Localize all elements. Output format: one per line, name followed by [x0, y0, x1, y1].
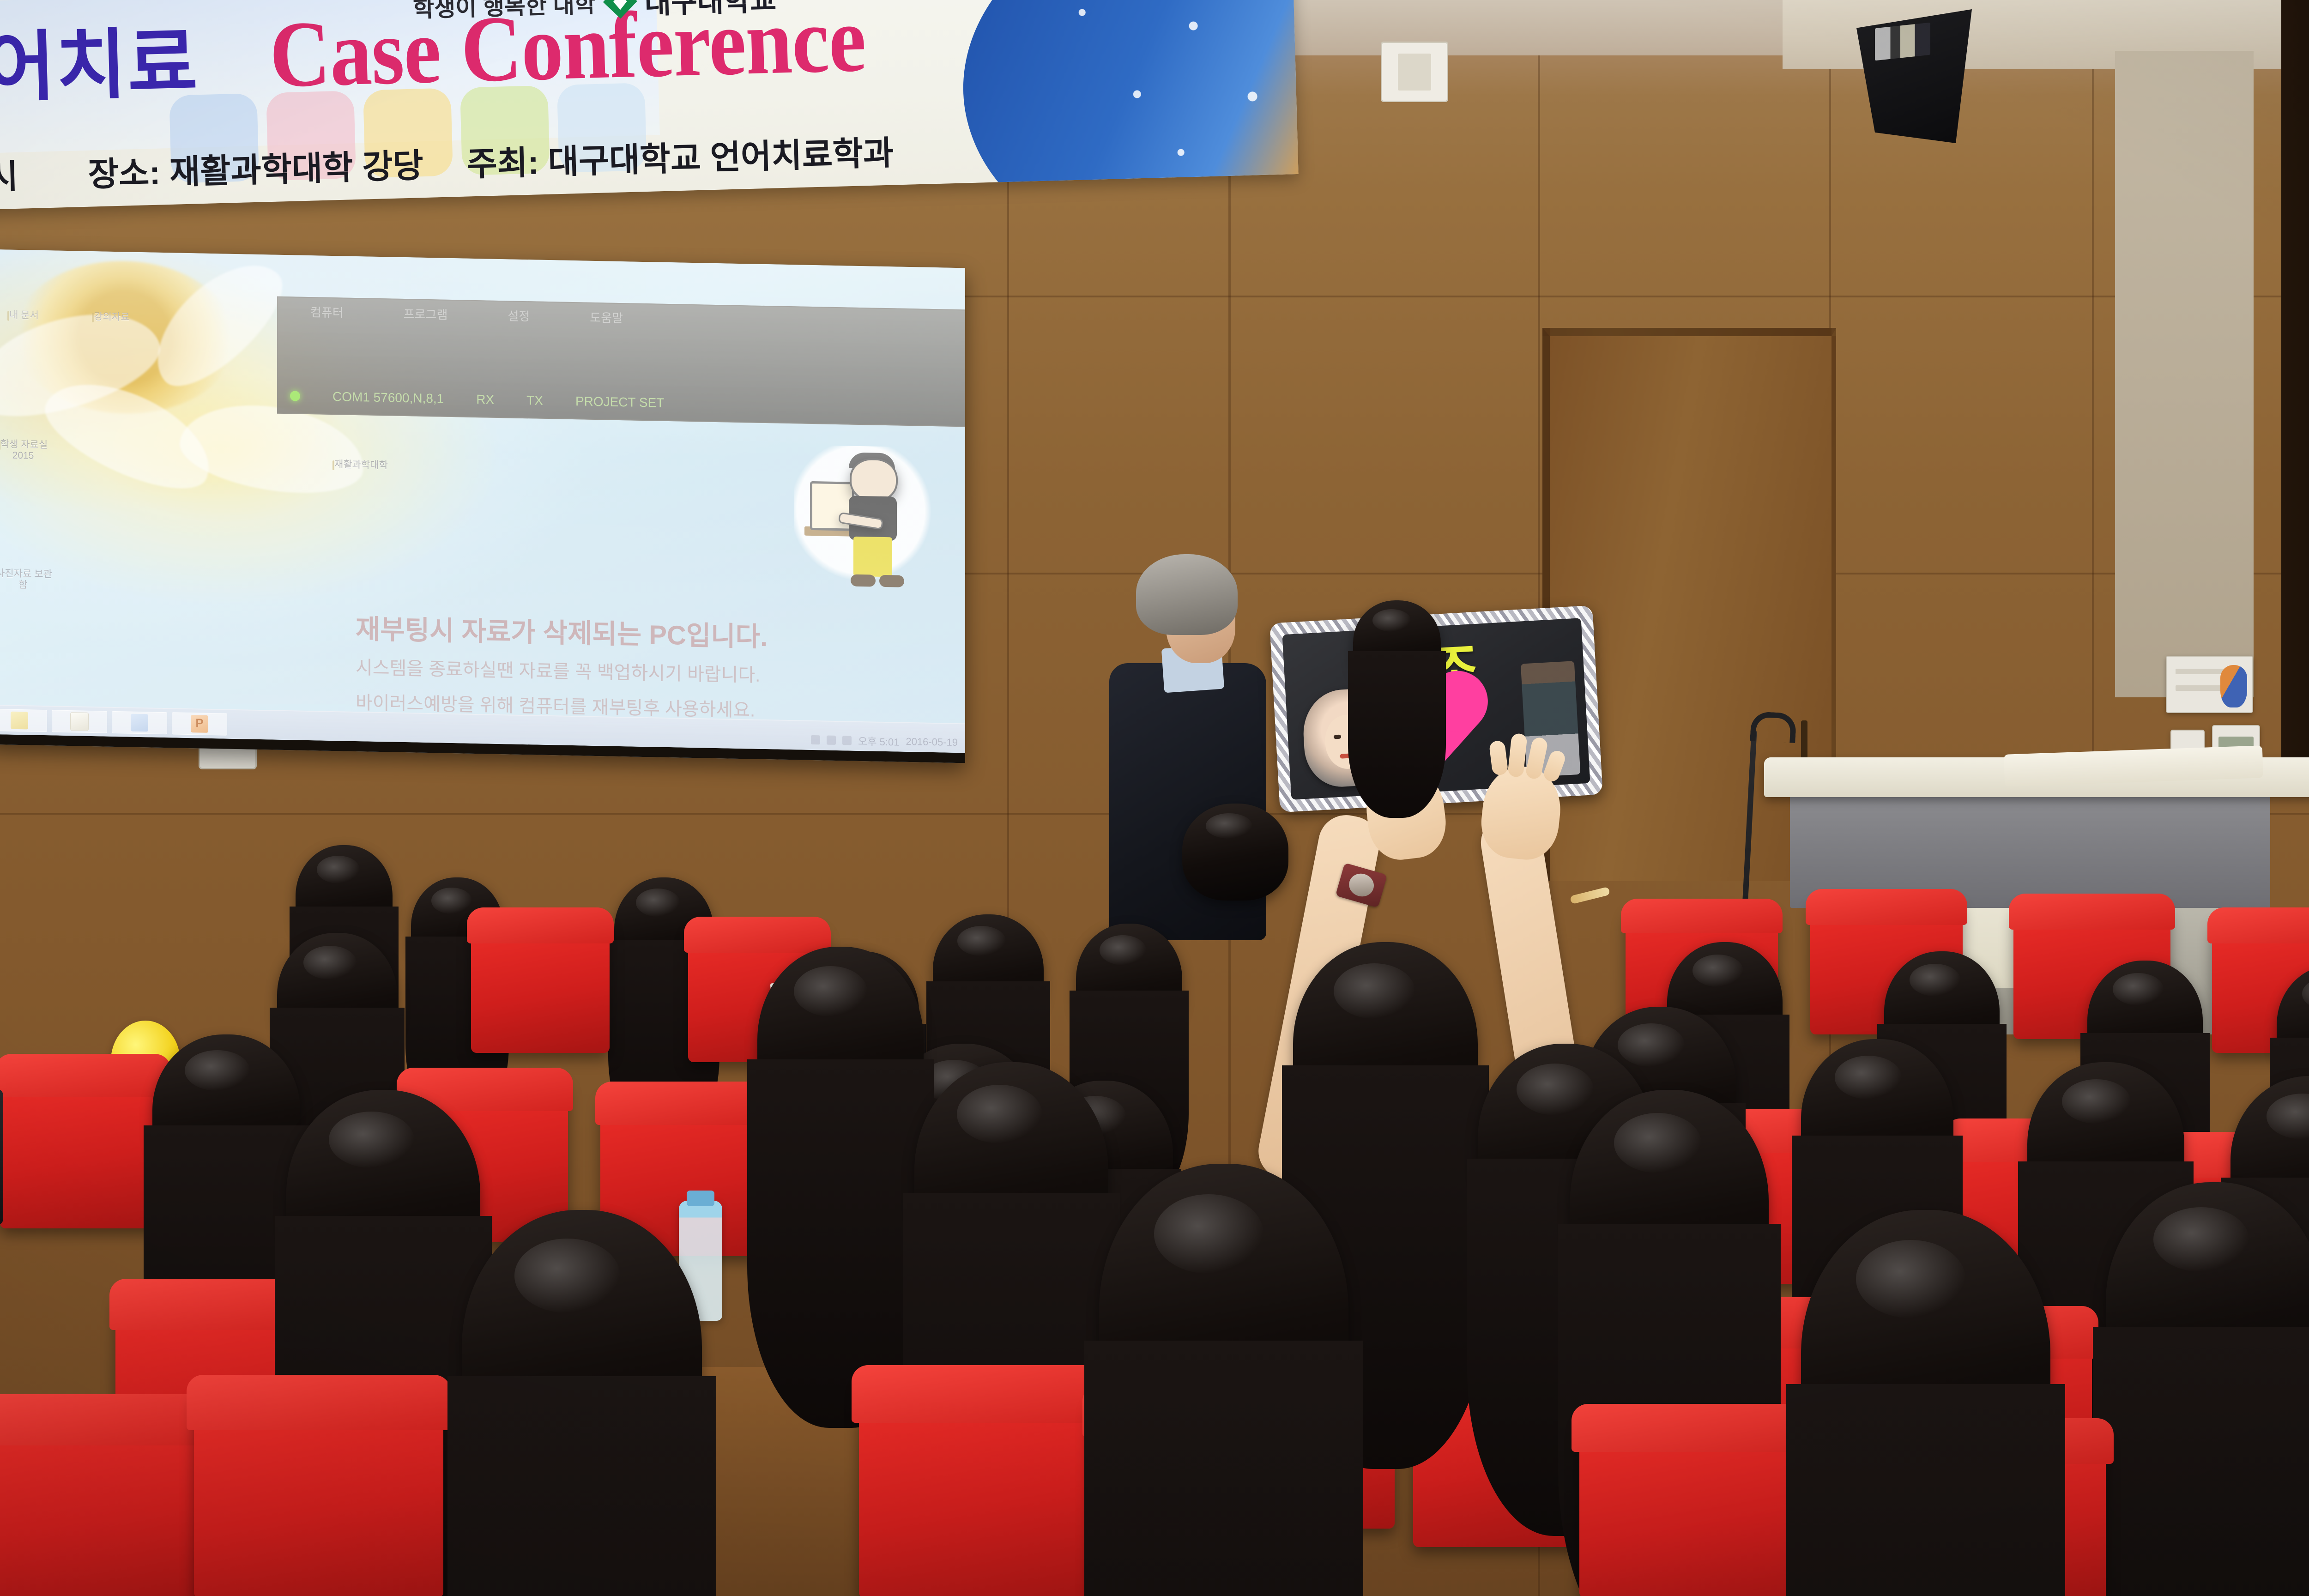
audience-head-foreground	[2106, 1182, 2309, 1432]
banner-time: 후 5시	[0, 149, 19, 200]
computer-user-clipart-icon	[794, 445, 933, 600]
audience-head	[1076, 924, 1182, 1039]
console-project-set-label: PROJECT SET	[575, 394, 664, 411]
tray-icon[interactable]	[811, 735, 820, 744]
desktop-icon-label: 재활과학대학	[334, 459, 388, 471]
auditorium-scene: 언어치료 Case Conference 학생이 행복한 대학 대구대학교 후 …	[0, 0, 2309, 1596]
audience-head-foreground	[462, 1210, 702, 1496]
taskbar-button[interactable]	[0, 709, 47, 732]
diamond-logo-icon	[603, 0, 638, 19]
projection-screen: 내 문서 강의자료 학생 자료실 2015 사진자료 보관함 재활과학대학 컴퓨…	[0, 249, 965, 763]
auditorium-seat-front	[0, 1404, 212, 1596]
audience-head	[1353, 600, 1441, 688]
desktop-icon[interactable]: 학생 자료실 2015	[0, 439, 55, 462]
desktop-icon-label: 사진자료 보관함	[0, 568, 52, 590]
desktop-icon[interactable]: 사진자료 보관함	[0, 568, 55, 592]
desktop-icon-label: 학생 자료실 2015	[0, 439, 48, 461]
serial-console-window[interactable]: 컴퓨터 프로그램 설정 도움말 COM1 57600,N,8,1 RX TX P…	[277, 296, 965, 427]
taskbar-button[interactable]	[112, 711, 167, 734]
banner-title-korean: 언어치료	[0, 0, 199, 119]
desktop-icon-label: 강의자료	[94, 311, 129, 322]
event-banner: 언어치료 Case Conference 학생이 행복한 대학 대구대학교 후 …	[0, 0, 1299, 211]
desktop-icon[interactable]: 내 문서	[0, 309, 55, 322]
console-rx-label: RX	[476, 392, 494, 407]
audience-head-foreground	[286, 1090, 480, 1307]
tray-clock-date[interactable]: 2016-05-19	[906, 736, 958, 749]
logo-university-name: 대구대학교	[644, 0, 777, 22]
powerpoint-icon	[191, 715, 208, 733]
audience-head	[277, 933, 397, 1062]
audience-head-foreground	[1801, 1210, 2050, 1510]
banner-place: 장소: 재활과학대학 강당	[87, 138, 424, 196]
auditorium-seat	[0, 1062, 166, 1228]
audience-head-foreground	[1293, 942, 1478, 1155]
console-tx-label: TX	[526, 393, 543, 408]
console-menu-item[interactable]: 설정	[508, 307, 530, 324]
browser-icon	[131, 714, 148, 732]
desktop-icon[interactable]: 강의자료	[79, 311, 143, 323]
console-port-status: COM1 57600,N,8,1	[332, 389, 444, 406]
audience-head-foreground	[1570, 1090, 1769, 1321]
auditorium-seat-front	[859, 1376, 1108, 1596]
folder-icon	[11, 712, 28, 730]
tray-clock-time[interactable]: 오후 5:01	[858, 733, 899, 749]
wall-light-switch[interactable]	[1381, 42, 1448, 102]
auditorium-seat-front	[194, 1385, 443, 1596]
logo-slogan: 학생이 행복한 대학	[412, 0, 596, 24]
desktop-icon[interactable]: 재활과학대학	[328, 459, 393, 472]
console-menu-item[interactable]: 컴퓨터	[310, 303, 344, 320]
taskbar-button[interactable]	[52, 710, 107, 733]
document-icon	[70, 712, 89, 731]
wall-sensor-icon	[2220, 665, 2247, 707]
taskbar-button[interactable]	[172, 712, 227, 735]
desktop-icon-label: 내 문서	[9, 310, 39, 321]
audience-head	[1801, 1039, 1953, 1205]
system-tray[interactable]: 오후 5:01 2016-05-19	[811, 732, 958, 750]
tray-icon[interactable]	[827, 736, 836, 745]
console-status-bar: COM1 57600,N,8,1 RX TX PROJECT SET	[278, 385, 965, 420]
tray-icon[interactable]	[842, 736, 852, 745]
console-menu-item[interactable]: 도움말	[590, 308, 623, 326]
audience-head-foreground	[757, 947, 924, 1141]
audience-head	[152, 1034, 300, 1191]
status-led-icon	[290, 391, 300, 401]
door-handle-icon[interactable]	[1801, 720, 1807, 762]
desktop-notice-line1: 재부팅시 자료가 삭제되는 PC입니다.	[356, 607, 768, 654]
right-corner-shadow	[2281, 0, 2309, 785]
lecturer-hair	[1136, 554, 1238, 635]
audience-head	[1182, 804, 1288, 901]
audience-head	[933, 914, 1044, 1030]
auditorium-seat	[471, 914, 610, 1053]
audience-head-foreground	[1099, 1164, 1348, 1469]
console-menu-item[interactable]: 프로그램	[404, 305, 448, 323]
right-wall-panel	[2115, 51, 2254, 697]
audience-head-foreground	[914, 1062, 1108, 1288]
speaker-grille-icon	[1875, 23, 1930, 61]
